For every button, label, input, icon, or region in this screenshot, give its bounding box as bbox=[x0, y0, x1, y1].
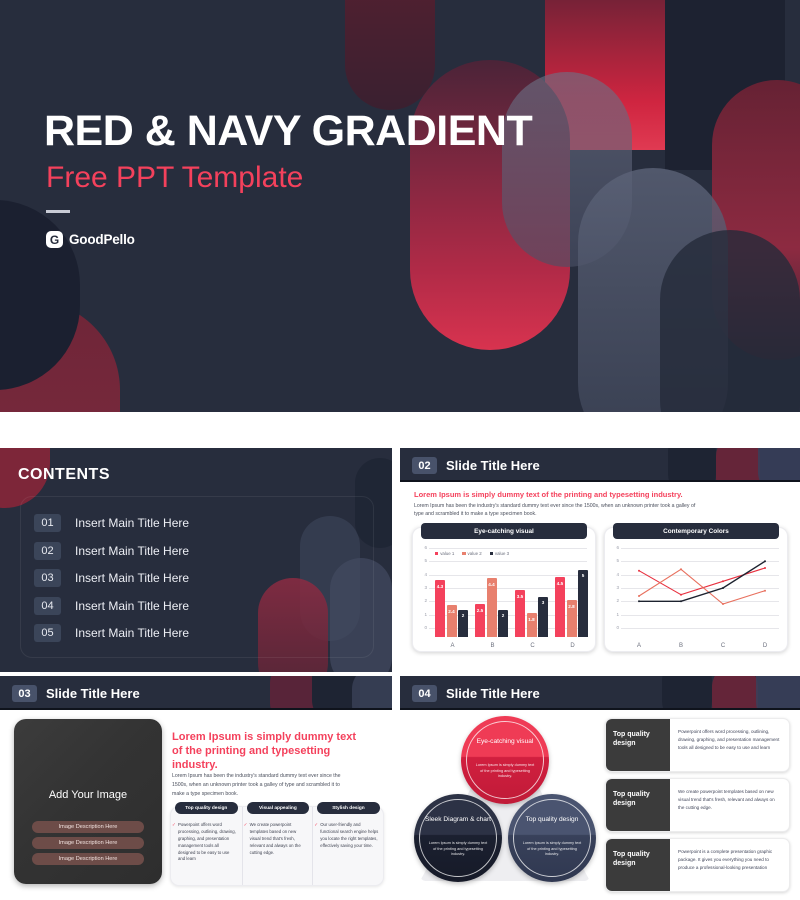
contents-label: Insert Main Title Here bbox=[75, 544, 189, 558]
y-tick: 6 bbox=[610, 546, 619, 551]
feature-columns: Top quality design ✓ Powerpoint offers w… bbox=[170, 806, 384, 886]
feature-column-body: Our user-friendly and functional search … bbox=[320, 822, 379, 850]
contents-slide[interactable]: CONTENTS 01 Insert Main Title Here 02 In… bbox=[0, 448, 392, 672]
contents-label: Insert Main Title Here bbox=[75, 571, 189, 585]
bar-chart-plot: value 1 value 2 value 3 6 5 4 3 2 bbox=[429, 548, 587, 637]
slide-03[interactable]: 03 Slide Title Here Add Your Image Image… bbox=[0, 676, 392, 900]
feature-row-title: Top quality design bbox=[613, 850, 665, 868]
feature-rows: Top quality design Powerpoint offers wor… bbox=[605, 718, 790, 898]
y-tick: 0 bbox=[418, 626, 427, 631]
feature-column[interactable]: Stylish design ✓ Our user-friendly and f… bbox=[312, 807, 384, 885]
bar-chart-title-bar: Eye-catching visual bbox=[421, 523, 587, 539]
bar-group: 4.3 2.4 2 bbox=[435, 557, 468, 637]
circle-body: Lorem Ipsum is simply dummy text of the … bbox=[427, 841, 489, 858]
diagram-circle-right[interactable]: Top quality design Lorem Ipsum is simply… bbox=[508, 794, 596, 882]
slide-04-header-row: 04 Slide Title Here bbox=[412, 685, 540, 702]
bg-pill-slate-hd bbox=[756, 676, 800, 710]
feature-row-label: Top quality design bbox=[606, 719, 670, 771]
bar-value: 2.8 bbox=[567, 604, 577, 609]
y-tick: 6 bbox=[418, 546, 427, 551]
bar-value: 3.5 bbox=[515, 594, 525, 599]
legend-label: value 3 bbox=[495, 551, 509, 556]
feature-column-title: Stylish design bbox=[332, 806, 365, 811]
bar-value: 2 bbox=[458, 613, 468, 618]
gridline bbox=[429, 548, 587, 549]
image-placeholder[interactable]: Add Your Image Image Description Here Im… bbox=[14, 719, 162, 884]
feature-row-label: Top quality design bbox=[606, 779, 670, 831]
list-item[interactable]: 02 Insert Main Title Here bbox=[34, 542, 189, 560]
slide-02[interactable]: 02 Slide Title Here Lorem Ipsum is simpl… bbox=[400, 448, 800, 672]
contents-label: Insert Main Title Here bbox=[75, 599, 189, 613]
cover-subtitle: Free PPT Template bbox=[46, 163, 303, 193]
legend-item: value 2 bbox=[462, 551, 481, 556]
contents-number: 05 bbox=[34, 624, 61, 642]
slide-title: Slide Title Here bbox=[46, 686, 140, 701]
contents-label: Insert Main Title Here bbox=[75, 626, 189, 640]
legend-item: value 1 bbox=[435, 551, 454, 556]
circle-body: Lorem Ipsum is simply dummy text of the … bbox=[521, 841, 583, 858]
feature-row[interactable]: Top quality design Powerpoint offers wor… bbox=[605, 718, 790, 772]
slide-number-badge: 04 bbox=[412, 685, 437, 702]
bar: 1.8 bbox=[527, 613, 537, 637]
contents-number: 01 bbox=[34, 514, 61, 532]
circle-label: Eye-catching visual bbox=[469, 738, 541, 747]
slide-number-badge: 02 bbox=[412, 457, 437, 474]
x-tick: A bbox=[627, 643, 651, 649]
bar: 3 bbox=[538, 597, 548, 637]
slide-03-heading: Lorem Ipsum is simply dummy text of the … bbox=[172, 730, 360, 772]
line-chart-title-bar: Contemporary Colors bbox=[613, 523, 779, 539]
bar: 2.5 bbox=[475, 604, 485, 637]
slide-04-header: 04 Slide Title Here bbox=[400, 676, 800, 710]
image-caption[interactable]: Image Description Here bbox=[32, 837, 144, 849]
x-tick: C bbox=[711, 643, 735, 649]
bg-pill-dark-hd bbox=[662, 676, 712, 710]
bar-chart-title: Eye-catching visual bbox=[474, 528, 534, 535]
check-icon: ✓ bbox=[314, 822, 318, 828]
list-item[interactable]: 05 Insert Main Title Here bbox=[34, 624, 189, 642]
cover-divider bbox=[46, 210, 70, 213]
contents-number: 04 bbox=[34, 597, 61, 615]
line-chart-plot: 6 5 4 3 2 1 0 A B bbox=[621, 548, 779, 637]
contents-title: CONTENTS bbox=[18, 466, 110, 484]
slide-03-header-row: 03 Slide Title Here bbox=[12, 685, 140, 702]
goodpello-logo-icon: G bbox=[46, 231, 63, 248]
slide-04[interactable]: 04 Slide Title Here Eye-catching visual … bbox=[400, 676, 800, 900]
y-tick: 4 bbox=[418, 573, 427, 578]
bar-value: 3 bbox=[538, 600, 548, 605]
logo-glyph: G bbox=[50, 234, 59, 246]
x-tick: B bbox=[475, 643, 510, 649]
contents-number: 03 bbox=[34, 569, 61, 587]
bar-value: 4.4 bbox=[487, 582, 497, 587]
brand-logo[interactable]: G GoodPello bbox=[46, 231, 135, 248]
bar-chart-legend: value 1 value 2 value 3 bbox=[435, 551, 509, 556]
legend-label: value 1 bbox=[440, 551, 454, 556]
bar: 4.5 bbox=[555, 577, 565, 637]
x-tick: D bbox=[555, 643, 590, 649]
contents-list: 01 Insert Main Title Here 02 Insert Main… bbox=[34, 514, 189, 652]
image-caption[interactable]: Image Description Here bbox=[32, 853, 144, 865]
slide-03-paragraph: Lorem Ipsum has been the industry's stan… bbox=[172, 772, 350, 799]
bar-value: 4.3 bbox=[435, 584, 445, 589]
bar: 2.4 bbox=[447, 605, 457, 637]
slide-title: Slide Title Here bbox=[446, 458, 540, 473]
image-caption-list: Image Description Here Image Description… bbox=[32, 821, 144, 869]
slide-02-body: Lorem Ipsum is simply dummy text of the … bbox=[400, 482, 800, 672]
bar-value: 2 bbox=[498, 613, 508, 618]
feature-row[interactable]: Top quality design Powerpoint is a compl… bbox=[605, 838, 790, 892]
venn-diagram: Eye-catching visual Lorem Ipsum is simpl… bbox=[410, 716, 600, 891]
bar-chart-card[interactable]: Eye-catching visual value 1 value 2 valu… bbox=[412, 527, 596, 652]
bar: 2.8 bbox=[567, 600, 577, 637]
legend-label: value 2 bbox=[468, 551, 482, 556]
slide-02-header-row: 02 Slide Title Here bbox=[412, 457, 540, 474]
line-series-1 bbox=[639, 568, 765, 595]
bg-pill-slate-hd bbox=[352, 676, 392, 710]
bar-group: 3.5 1.8 3 bbox=[515, 557, 548, 637]
line-chart-svg bbox=[621, 548, 776, 628]
y-tick: 3 bbox=[610, 586, 619, 591]
feature-row-body: We create powerpoint templates based on … bbox=[678, 788, 782, 811]
check-icon: ✓ bbox=[244, 822, 248, 828]
contents-number: 02 bbox=[34, 542, 61, 560]
circle-ring bbox=[419, 799, 497, 877]
list-item[interactable]: 04 Insert Main Title Here bbox=[34, 597, 189, 615]
feature-column[interactable]: Top quality design ✓ Powerpoint offers w… bbox=[171, 807, 242, 885]
y-tick: 2 bbox=[418, 599, 427, 604]
feature-column-title: Visual appealing bbox=[259, 806, 297, 811]
y-tick: 1 bbox=[610, 613, 619, 618]
slide-03-header: 03 Slide Title Here bbox=[0, 676, 392, 710]
feature-column-header: Visual appealing bbox=[247, 802, 310, 814]
bar-value: 2.5 bbox=[475, 608, 485, 613]
feature-row-body: Powerpoint is a complete presentation gr… bbox=[678, 848, 782, 871]
feature-column-body: We create powerpoint templates based on … bbox=[250, 822, 309, 856]
bar: 2 bbox=[458, 610, 468, 637]
feature-row-title: Top quality design bbox=[613, 730, 665, 748]
feature-column-body: Powerpoint offers word processing, outli… bbox=[178, 822, 237, 863]
bar-group: 4.5 2.8 5 bbox=[555, 557, 588, 637]
list-item[interactable]: 03 Insert Main Title Here bbox=[34, 569, 189, 587]
y-tick: 0 bbox=[610, 626, 619, 631]
slide-03-body: Add Your Image Image Description Here Im… bbox=[0, 710, 392, 900]
circle-ring bbox=[513, 799, 591, 877]
bar: 4.3 bbox=[435, 580, 445, 637]
feature-column[interactable]: Visual appealing ✓ We create powerpoint … bbox=[242, 807, 314, 885]
bar: 4.4 bbox=[487, 578, 497, 637]
feature-row-title: Top quality design bbox=[613, 790, 665, 808]
x-tick: D bbox=[753, 643, 777, 649]
line-chart-card[interactable]: Contemporary Colors 6 5 4 3 2 1 0 bbox=[604, 527, 788, 652]
feature-column-title: Top quality design bbox=[185, 806, 227, 811]
y-tick: 4 bbox=[610, 573, 619, 578]
circle-label: Top quality design bbox=[516, 816, 588, 825]
feature-row[interactable]: Top quality design We create powerpoint … bbox=[605, 778, 790, 832]
slide-02-paragraph: Lorem Ipsum has been the industry's stan… bbox=[414, 502, 704, 518]
bar: 5 bbox=[578, 570, 588, 637]
bar-group: 2.5 4.4 2 bbox=[475, 557, 508, 637]
x-tick: C bbox=[515, 643, 550, 649]
bar-value: 5 bbox=[578, 573, 588, 578]
circle-label: Sleek Diagram & chart bbox=[422, 816, 494, 825]
cover-slide[interactable]: RED & NAVY GRADIENT Free PPT Template G … bbox=[0, 0, 800, 412]
bg-pill-slate-hd bbox=[758, 448, 800, 482]
feature-row-label: Top quality design bbox=[606, 839, 670, 891]
y-tick: 2 bbox=[610, 599, 619, 604]
cover-title: RED & NAVY GRADIENT bbox=[44, 110, 532, 153]
x-tick: A bbox=[435, 643, 470, 649]
contents-label: Insert Main Title Here bbox=[75, 516, 189, 530]
bar: 3.5 bbox=[515, 590, 525, 637]
feature-column-header: Top quality design bbox=[175, 802, 238, 814]
y-tick: 5 bbox=[418, 559, 427, 564]
y-tick: 5 bbox=[610, 559, 619, 564]
gridline bbox=[621, 628, 779, 629]
slide-number-badge: 03 bbox=[12, 685, 37, 702]
bar-value: 4.5 bbox=[555, 581, 565, 586]
logo-text: GoodPello bbox=[69, 232, 135, 247]
diagram-circle-left[interactable]: Sleek Diagram & chart Lorem Ipsum is sim… bbox=[414, 794, 502, 882]
circle-body: Lorem Ipsum is simply dummy text of the … bbox=[474, 763, 536, 780]
feature-column-header: Stylish design bbox=[317, 802, 380, 814]
bar-value: 2.4 bbox=[447, 609, 457, 614]
y-tick: 1 bbox=[418, 613, 427, 618]
slide-02-header: 02 Slide Title Here bbox=[400, 448, 800, 482]
bg-pill-red-hd bbox=[716, 448, 760, 482]
y-tick: 3 bbox=[418, 586, 427, 591]
slide-02-lead: Lorem Ipsum is simply dummy text of the … bbox=[414, 490, 683, 499]
list-item[interactable]: 01 Insert Main Title Here bbox=[34, 514, 189, 532]
ppt-template-preview: RED & NAVY GRADIENT Free PPT Template G … bbox=[0, 0, 800, 900]
bg-pill-dark-hd bbox=[668, 448, 716, 482]
diagram-circle-top[interactable]: Eye-catching visual Lorem Ipsum is simpl… bbox=[461, 716, 549, 804]
check-icon: ✓ bbox=[172, 822, 176, 828]
circle-ring bbox=[466, 721, 544, 799]
image-placeholder-label: Add Your Image bbox=[14, 789, 162, 801]
bar: 2 bbox=[498, 610, 508, 637]
x-tick: B bbox=[669, 643, 693, 649]
slide-title: Slide Title Here bbox=[446, 686, 540, 701]
bar-value: 1.8 bbox=[527, 617, 537, 622]
feature-row-body: Powerpoint offers word processing, outli… bbox=[678, 728, 782, 751]
image-caption[interactable]: Image Description Here bbox=[32, 821, 144, 833]
slide-04-body: Eye-catching visual Lorem Ipsum is simpl… bbox=[400, 710, 800, 900]
bg-pill-red-hd bbox=[712, 676, 758, 710]
line-chart-title: Contemporary Colors bbox=[663, 528, 729, 535]
legend-item: value 3 bbox=[490, 551, 509, 556]
bg-pill-red-hd bbox=[270, 676, 316, 710]
